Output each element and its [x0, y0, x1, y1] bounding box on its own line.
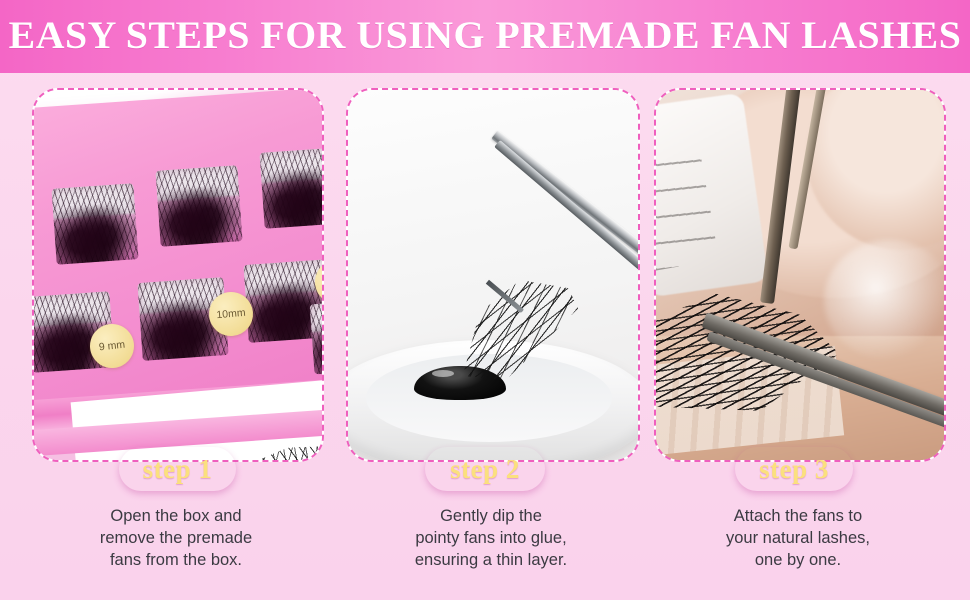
- page-title: EASY STEPS FOR USING PREMADE FAN LASHES: [9, 13, 962, 61]
- glue-dip-illustration: [348, 90, 638, 460]
- poster: EASY STEPS FOR USING PREMADE FAN LASHES …: [0, 0, 970, 600]
- lash-application-illustration: [656, 90, 944, 460]
- tweezer-arm-lower: [494, 140, 638, 292]
- step-3-image-panel: [654, 88, 946, 462]
- tray-cell: [51, 183, 138, 265]
- step-2-image-panel: [346, 88, 640, 462]
- caption-line: ensuring a thin layer.: [346, 549, 636, 571]
- glue-drop-highlight: [432, 370, 454, 377]
- step-2-badge-label: step 2: [450, 456, 520, 483]
- tray-cell: [259, 147, 322, 229]
- step-2-badge: step 2: [425, 447, 545, 491]
- caption-line: remove the premade: [32, 527, 320, 549]
- tray-cell: [243, 259, 322, 343]
- steps-panel-row: 9 mm 10mm 11mm 13mm 14mm: [0, 88, 970, 458]
- step-1-badge: step 1: [119, 447, 236, 491]
- caption-line: one by one.: [654, 549, 942, 571]
- step-1-caption: Open the box and remove the premade fans…: [32, 505, 320, 571]
- step-1-image-panel: 9 mm 10mm 11mm 13mm 14mm: [32, 88, 324, 462]
- tray-cell: [155, 165, 242, 247]
- highlight-blur: [824, 240, 944, 360]
- step-1-badge-label: step 1: [143, 456, 213, 483]
- caption-line: fans from the box.: [32, 549, 320, 571]
- header-banner: EASY STEPS FOR USING PREMADE FAN LASHES: [0, 0, 970, 73]
- step-2-caption: Gently dip the pointy fans into glue, en…: [346, 505, 636, 571]
- caption-line: Open the box and: [32, 505, 320, 527]
- step-3-badge-label: step 3: [759, 456, 829, 483]
- tweezers: [498, 130, 638, 360]
- caption-line: Attach the fans to: [654, 505, 942, 527]
- lash-tray-illustration: 9 mm 10mm 11mm 13mm 14mm: [34, 90, 322, 460]
- caption-line: pointy fans into glue,: [346, 527, 636, 549]
- step-3-caption: Attach the fans to your natural lashes, …: [654, 505, 942, 571]
- caption-line: Gently dip the: [346, 505, 636, 527]
- caption-line: your natural lashes,: [654, 527, 942, 549]
- step-3-badge: step 3: [735, 447, 853, 491]
